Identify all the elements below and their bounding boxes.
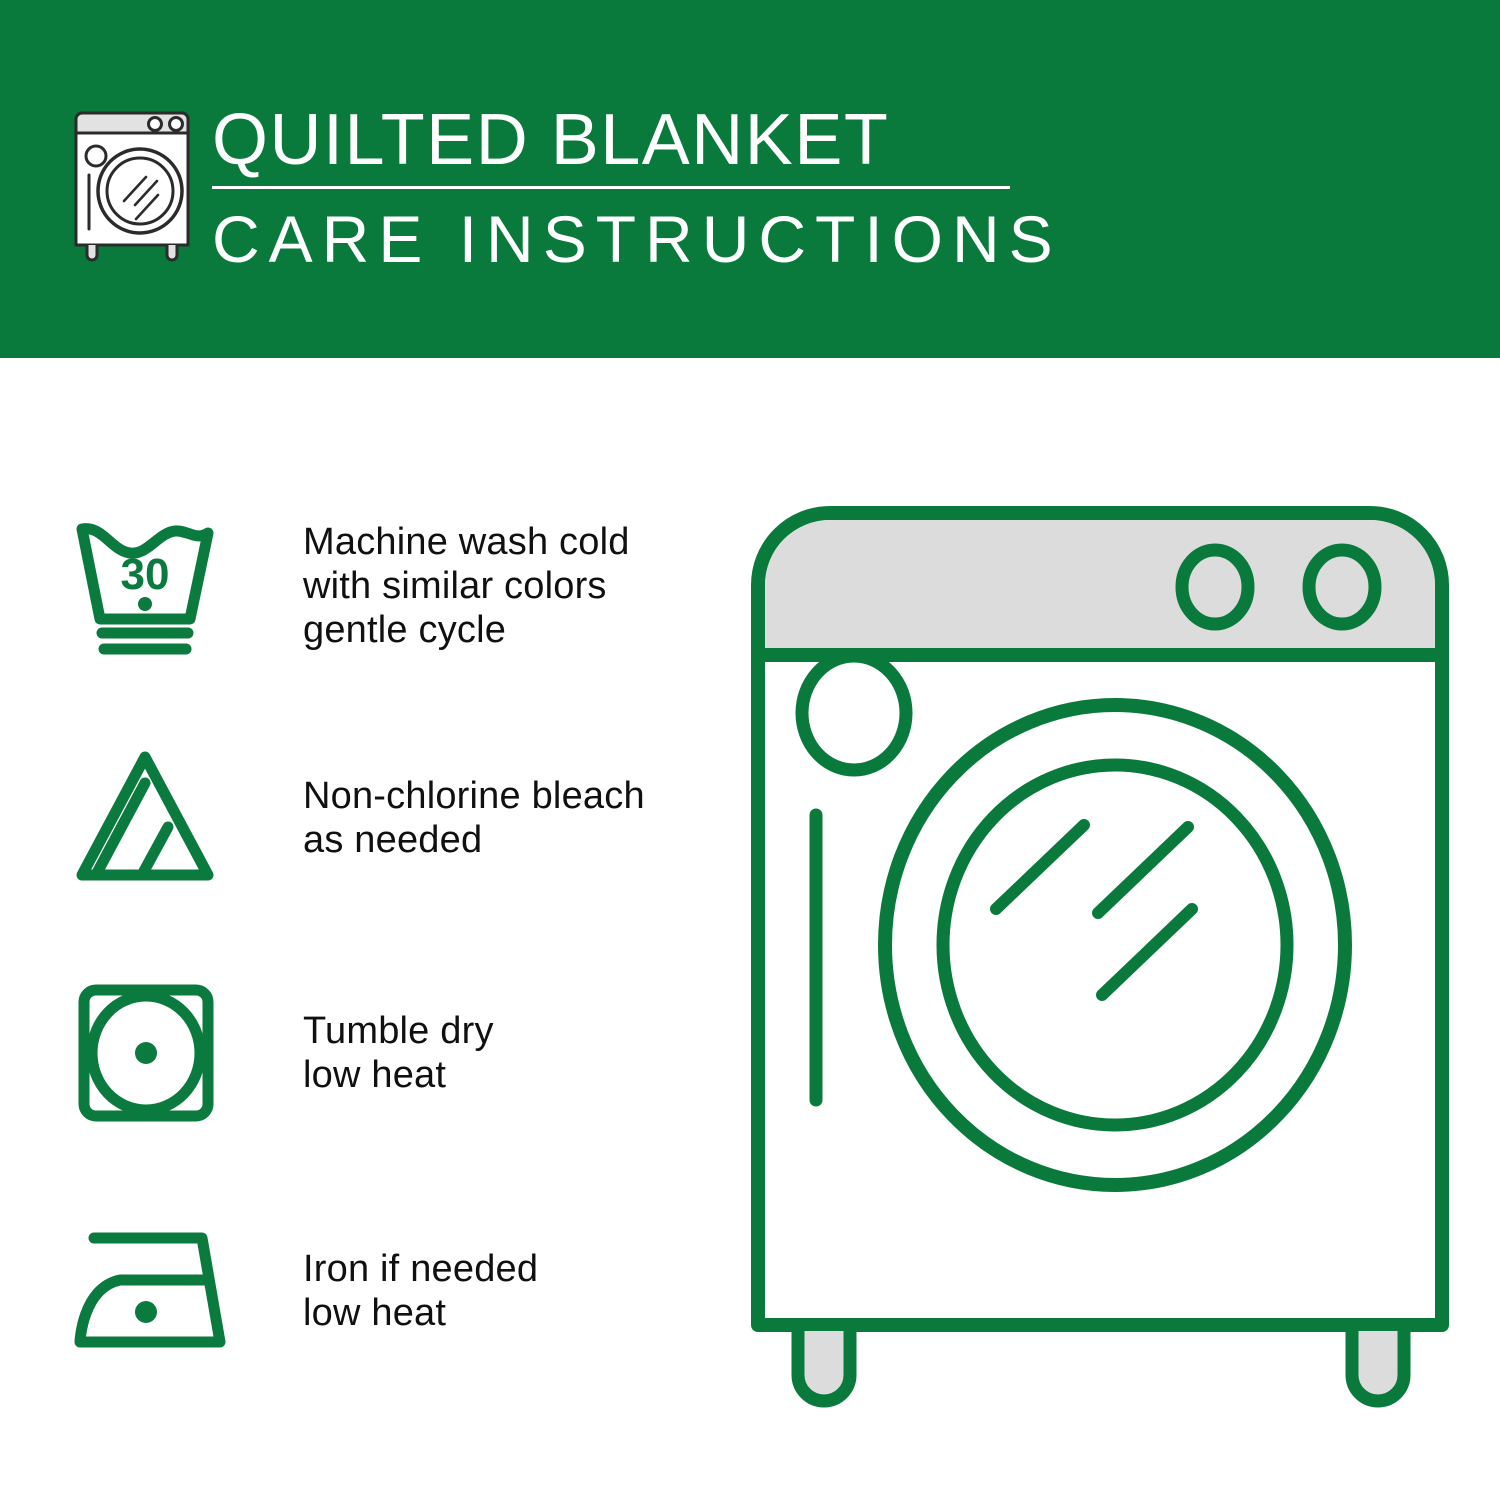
care-label-machine-wash: Machine wash cold with similar colors ge… [245,520,630,652]
care-instruction-list: 30 Machine wash cold with similar colors… [0,358,720,1500]
washing-machine-icon [62,105,202,265]
title-divider [212,186,1010,189]
non-chlorine-bleach-icon [70,740,245,895]
care-label-tumble-dry: Tumble dry low heat [245,1009,494,1097]
page-header: QUILTED BLANKET CARE INSTRUCTIONS [0,0,1500,358]
tumble-dry-low-icon [70,975,245,1130]
care-row-machine-wash: 30 Machine wash cold with similar colors… [70,508,710,663]
care-instructions-page: QUILTED BLANKET CARE INSTRUCTIONS 30 [0,0,1500,1500]
care-label-iron: Iron if needed low heat [245,1247,538,1335]
care-row-bleach: Non-chlorine bleach as needed [70,740,710,895]
care-row-tumble-dry: Tumble dry low heat [70,975,710,1130]
header-text-block: QUILTED BLANKET CARE INSTRUCTIONS [212,100,1032,277]
front-load-washing-machine-illustration [740,495,1460,1425]
care-row-iron: Iron if needed low heat [70,1213,710,1368]
machine-wash-30-gentle-icon: 30 [70,508,245,663]
care-label-bleach: Non-chlorine bleach as needed [245,774,645,862]
wash-temperature-value: 30 [121,550,170,599]
page-subtitle: CARE INSTRUCTIONS [212,201,1032,277]
iron-low-heat-icon [70,1213,245,1368]
page-title: QUILTED BLANKET [212,100,1032,180]
